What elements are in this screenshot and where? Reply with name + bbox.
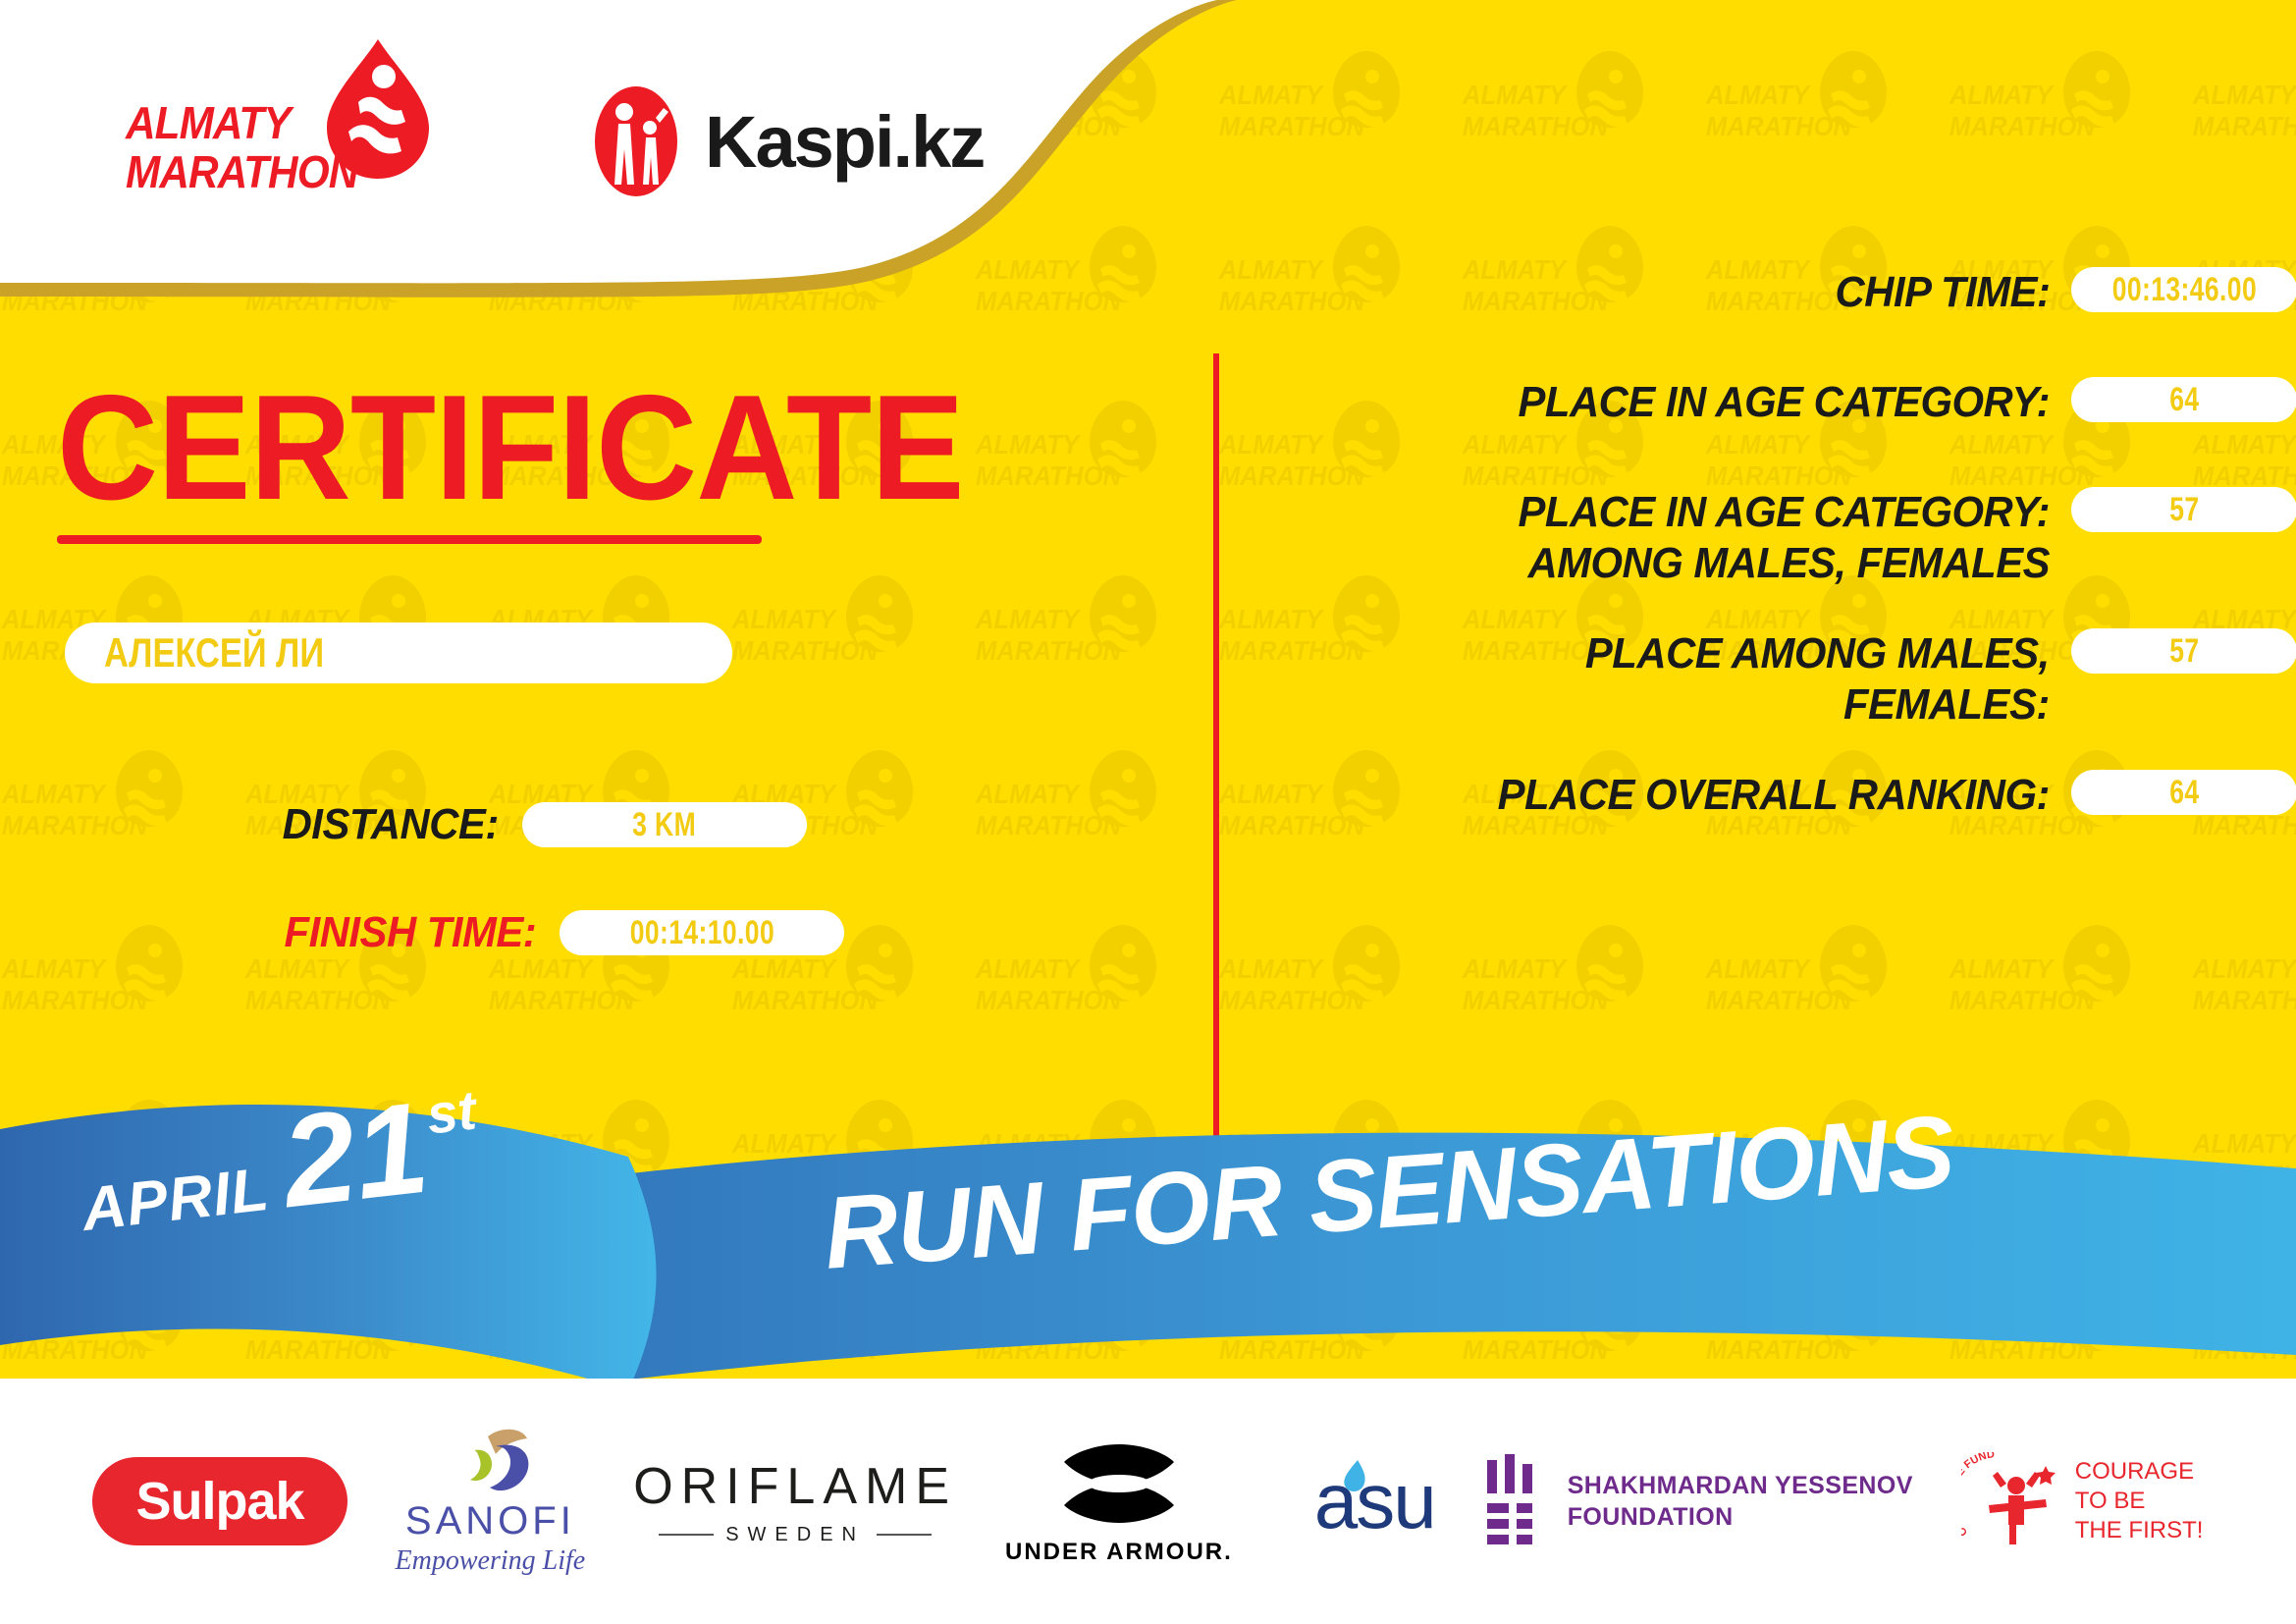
ribbon-band-left bbox=[0, 1105, 657, 1390]
place-age-category-label: PLACE IN AGE CATEGORY: bbox=[1518, 377, 2050, 428]
place-age-category-gender-value: 57 bbox=[2169, 491, 2199, 529]
oriflame-rule-right bbox=[877, 1534, 932, 1536]
almaty-marathon-drop-runner-icon bbox=[319, 37, 437, 181]
distance-row: DISTANCE: 3 KM bbox=[271, 800, 807, 849]
sanofi-tagline: Empowering Life bbox=[396, 1545, 586, 1577]
kaspi-person-icon bbox=[589, 84, 683, 198]
yessenov-wordmark: SHAKHMARDAN YESSENOV bbox=[1568, 1470, 1913, 1501]
oriflame-tagline: SWEDEN bbox=[725, 1524, 865, 1546]
yessenov-tagline: FOUNDATION bbox=[1568, 1501, 1913, 1533]
under-armour-icon bbox=[1054, 1436, 1184, 1531]
kaspi-logo: Kaspi.kz bbox=[589, 77, 1001, 206]
under-armour-wordmark: UNDER ARMOUR. bbox=[1005, 1539, 1233, 1566]
finish-time-row: FINISH TIME: 00:14:10.00 bbox=[271, 908, 844, 957]
svg-text:CORPORATE FUND: CORPORATE FUND bbox=[1961, 1452, 1996, 1539]
asu-wordmark: asu bbox=[1314, 1456, 1435, 1546]
distance-value-pill: 3 KM bbox=[522, 802, 807, 847]
sulpak-wordmark: Sulpak bbox=[135, 1471, 303, 1532]
courage-fund-tagline: COURAGE TO BE THE FIRST! bbox=[2075, 1457, 2204, 1545]
yessenov-bars-icon bbox=[1483, 1454, 1548, 1548]
sanofi-bird-icon bbox=[445, 1427, 535, 1497]
sponsor-oriflame: ORIFLAME SWEDEN bbox=[633, 1457, 957, 1546]
chip-time-label: CHIP TIME: bbox=[1835, 267, 2050, 318]
place-overall-value-pill: 64 bbox=[2071, 770, 2296, 815]
sponsor-under-armour: UNDER ARMOUR. bbox=[1005, 1436, 1233, 1566]
distance-label: DISTANCE: bbox=[283, 800, 499, 849]
finish-time-value: 00:14:10.00 bbox=[630, 914, 774, 952]
sponsor-yessenov: SHAKHMARDAN YESSENOV FOUNDATION bbox=[1483, 1454, 1913, 1548]
chip-time-value-pill: 00:13:46.00 bbox=[2071, 267, 2296, 312]
finish-time-value-pill: 00:14:10.00 bbox=[560, 910, 844, 955]
ribbon-band-right bbox=[589, 1133, 2296, 1384]
oriflame-wordmark: ORIFLAME bbox=[633, 1457, 957, 1516]
sponsor-sanofi: SANOFI Empowering Life bbox=[396, 1427, 586, 1577]
distance-value: 3 KM bbox=[632, 806, 696, 844]
kaspi-wordmark: Kaspi.kz bbox=[705, 100, 984, 184]
courage-fund-runner-icon: CORPORATE FUND bbox=[1961, 1452, 2063, 1550]
result-row-place-among-gender: PLACE AMONG MALES, FEMALES: 57 bbox=[1561, 628, 2296, 731]
sponsor-asu: asu bbox=[1281, 1456, 1435, 1546]
title-underline bbox=[57, 535, 762, 544]
sulpak-badge: Sulpak bbox=[92, 1457, 347, 1545]
participant-name-value: АЛЕКСЕЙ ЛИ bbox=[104, 629, 324, 677]
result-row-chip-time: CHIP TIME: 00:13:46.00 bbox=[1824, 267, 2296, 318]
place-age-category-gender-value-pill: 57 bbox=[2071, 487, 2296, 532]
place-among-gender-label: PLACE AMONG MALES, FEMALES: bbox=[1585, 628, 2050, 731]
chip-time-value: 00:13:46.00 bbox=[2111, 271, 2256, 309]
participant-name-field: АЛЕКСЕЙ ЛИ bbox=[65, 623, 732, 683]
sponsor-footer: Sulpak SANOFI Empowering Life ORIFLAME S… bbox=[0, 1379, 2296, 1624]
result-row-place-age-category-gender: PLACE IN AGE CATEGORY: AMONG MALES, FEMA… bbox=[1490, 487, 2296, 589]
place-age-category-gender-label: PLACE IN AGE CATEGORY: AMONG MALES, FEMA… bbox=[1518, 487, 2050, 589]
page-title: CERTIFICATE bbox=[57, 373, 964, 522]
sponsor-sulpak: Sulpak bbox=[92, 1457, 347, 1545]
finish-time-label: FINISH TIME: bbox=[285, 908, 537, 957]
oriflame-rule-left bbox=[659, 1534, 714, 1536]
place-age-category-value-pill: 64 bbox=[2071, 377, 2296, 422]
place-age-category-value: 64 bbox=[2169, 381, 2199, 419]
certificate-canvas: ALMATY MARATHON Kaspi.kz bbox=[0, 0, 2296, 1624]
place-overall-label: PLACE OVERALL RANKING: bbox=[1498, 770, 2050, 821]
result-row-place-age-category: PLACE IN AGE CATEGORY: 64 bbox=[1490, 377, 2296, 428]
almaty-marathon-logo: ALMATY MARATHON bbox=[126, 73, 440, 210]
oriflame-sub: SWEDEN bbox=[659, 1524, 932, 1546]
yessenov-wordmark-block: SHAKHMARDAN YESSENOV FOUNDATION bbox=[1568, 1470, 1913, 1533]
sponsor-courage-fund: CORPORATE FUND COURAGE TO BE THE FIRST! bbox=[1961, 1452, 2204, 1550]
result-row-place-overall: PLACE OVERALL RANKING: 64 bbox=[1468, 770, 2296, 821]
place-overall-value: 64 bbox=[2169, 774, 2199, 812]
asu-droplet-icon bbox=[1338, 1456, 1371, 1499]
sanofi-wordmark: SANOFI bbox=[405, 1499, 575, 1543]
place-among-gender-value: 57 bbox=[2169, 632, 2199, 671]
header-logos: ALMATY MARATHON Kaspi.kz bbox=[0, 0, 1217, 283]
place-among-gender-value-pill: 57 bbox=[2071, 628, 2296, 674]
